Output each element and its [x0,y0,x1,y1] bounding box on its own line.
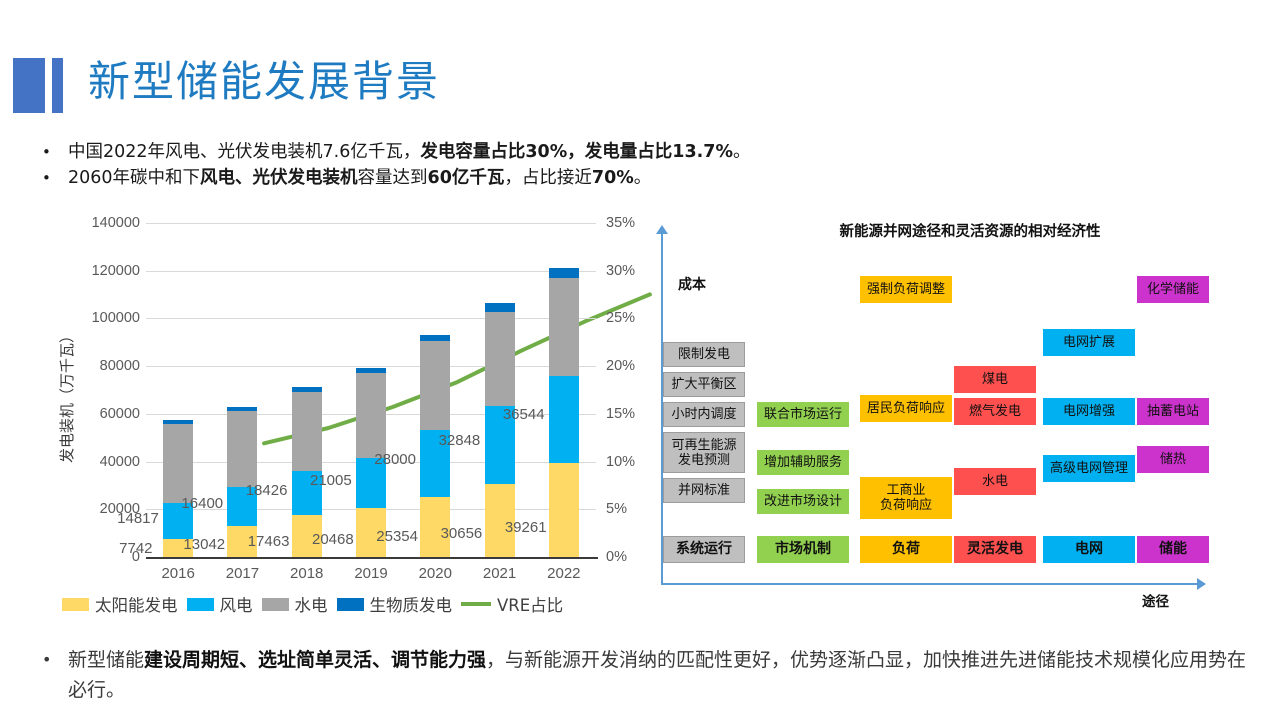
diagram-box[interactable]: 小时内调度 [663,402,745,427]
diagram-box-label: 储热 [1160,452,1186,467]
bullet-marker-icon: • [34,645,68,675]
chart-data-label-solar: 20468 [312,531,354,548]
diagram-box[interactable]: 居民负荷响应 [860,395,952,422]
page-title: 新型储能发展背景 [88,50,440,114]
diagram-y-axis-arrow-icon [656,225,668,234]
bullet-item: •2060年碳中和下风电、光伏发电装机容量达到60亿千瓦，占比接近70%。 [34,165,1249,191]
chart-bar-segment [420,335,450,342]
chart-bar-segment [227,411,257,486]
bullet-item: •新型储能建设周期短、选址简单灵活、调节能力强，与新能源开发消纳的匹配性更好，优… [34,645,1249,705]
diagram-x-axis-arrow-icon [1197,578,1206,590]
chart-y-axis-left: 020000400006000080000100000120000140000 [78,205,140,560]
chart-y-axis-label: 发电装机（万千瓦） [56,328,77,463]
diagram-box-label: 煤电 [982,372,1008,387]
chart-bar-segment [356,373,386,458]
diagram-box-label: 工商业 负荷响应 [880,483,932,513]
diagram-box[interactable]: 高级电网管理 [1043,455,1135,482]
chart-data-label-wind: 16400 [181,495,223,512]
chart-bar-segment [292,392,322,471]
diagram-box-label: 小时内调度 [671,407,736,422]
vre-share-polyline [264,294,650,443]
diagram-box[interactable]: 电网 [1043,536,1135,563]
diagram-box-label: 水电 [982,474,1008,489]
diagram-box-label: 电网增强 [1063,404,1115,419]
chart-bar-segment [227,407,257,411]
diagram-box-label: 并网标准 [678,483,730,498]
chart-data-label-wind: 21005 [310,472,352,489]
diagram-box-label: 扩大平衡区 [671,377,736,392]
top-bullet-list: •中国2022年风电、光伏发电装机7.6亿千瓦，发电容量占比30%，发电量占比1… [34,139,1249,191]
legend-swatch-icon [62,598,89,611]
diagram-box[interactable]: 电网增强 [1043,398,1135,425]
diagram-box[interactable]: 增加辅助服务 [757,450,849,475]
diagram-box-label: 居民负荷响应 [867,401,945,416]
chart-y-axis-right: 0%5%10%15%20%25%30%35% [596,205,656,560]
legend-line-icon [461,602,491,606]
diagram-box-label: 灵活发电 [967,542,1023,557]
diagram-box[interactable]: 系统运行 [663,536,745,563]
chart-data-label-wind: 36544 [503,406,545,423]
chart-legend: 太阳能发电风电水电生物质发电VRE占比 [62,592,622,616]
diagram-box[interactable]: 限制发电 [663,342,745,367]
diagram-box[interactable]: 储热 [1137,446,1209,473]
bullet-plain: ，占比接近 [504,168,592,188]
bullet-item: •中国2022年风电、光伏发电装机7.6亿千瓦，发电容量占比30%，发电量占比1… [34,139,1249,165]
legend-label: 太阳能发电 [95,592,178,616]
bullet-marker-icon: • [34,165,68,191]
chart-x-tick: 2016 [148,565,208,582]
chart-x-axis-line [146,557,598,559]
bullet-emphasis: 发电容量占比30%，发电量占比13.7% [420,142,733,162]
bullet-emphasis: 建设周期短、选址简单灵活、调节能力强 [144,649,486,671]
chart-x-tick: 2017 [212,565,272,582]
diagram-box[interactable]: 煤电 [954,366,1036,393]
bullet-emphasis: 60亿千瓦 [428,168,505,188]
diagram-box[interactable]: 储能 [1137,536,1209,563]
bullet-plain: 新型储能 [68,649,144,671]
diagram-box-label: 限制发电 [678,347,730,362]
diagram-box[interactable]: 抽蓄电站 [1137,398,1209,425]
chart-bar-stack [292,223,322,557]
generation-capacity-chart: 发电装机（万千瓦） 020000400006000080000100000120… [60,205,655,620]
title-accent-bar-wide [13,58,45,113]
chart-bar-segment [549,278,579,377]
legend-swatch-icon [187,598,214,611]
diagram-x-axis-line [661,583,1199,585]
diagram-box-label: 燃气发电 [969,404,1021,419]
chart-data-label-wind: 18426 [246,482,288,499]
chart-bar-segment [356,368,386,373]
diagram-box-label: 高级电网管理 [1050,461,1128,476]
diagram-box[interactable]: 并网标准 [663,478,745,503]
chart-bar-segment [292,387,322,392]
diagram-box-label: 电网扩展 [1063,335,1115,350]
diagram-box-label: 增加辅助服务 [764,455,842,470]
chart-data-label-wind: 28000 [374,451,416,468]
diagram-box-label: 市场机制 [775,542,831,557]
chart-x-tick: 2022 [534,565,594,582]
chart-plot-area: 7742148171304216400174631842620468210052… [146,223,596,557]
chart-bar-stack [549,223,579,557]
diagram-box-label: 改进市场设计 [764,494,842,509]
bullet-plain: 。 [634,168,652,188]
chart-bar-segment [163,424,193,503]
diagram-y-axis-label: 成本 [678,274,706,294]
chart-y-tick-left: 40000 [78,454,140,470]
legend-label: VRE占比 [497,592,563,616]
chart-bar-segment [549,463,579,557]
bullet-plain: 。 [733,142,751,162]
bullet-marker-icon: • [34,139,68,165]
chart-data-label-solar: 30656 [441,525,483,542]
chart-bar-stack [485,223,515,557]
diagram-box[interactable]: 强制负荷调整 [860,276,952,303]
diagram-box[interactable]: 改进市场设计 [757,489,849,514]
legend-item[interactable]: 风电 [187,592,253,616]
diagram-box[interactable]: 联合市场运行 [757,402,849,427]
bullet-text: 中国2022年风电、光伏发电装机7.6亿千瓦，发电容量占比30%，发电量占比13… [68,139,1249,165]
legend-item[interactable]: 水电 [262,592,328,616]
chart-data-label-solar: 13042 [183,536,225,553]
diagram-box-label: 储能 [1159,542,1187,557]
diagram-box-label: 负荷 [892,542,920,557]
diagram-box[interactable]: 灵活发电 [954,536,1036,563]
chart-bar-segment [163,420,193,424]
chart-x-tick: 2018 [277,565,337,582]
chart-bar-segment [549,376,579,463]
chart-data-label-solar: 25354 [376,528,418,545]
diagram-box-label: 联合市场运行 [764,407,842,422]
chart-bar-segment [420,341,450,429]
bottom-bullet-list: •新型储能建设周期短、选址简单灵活、调节能力强，与新能源开发消纳的匹配性更好，优… [34,645,1249,705]
chart-bar-stack [420,223,450,557]
diagram-x-axis-label: 途径 [1142,590,1169,610]
diagram-box[interactable]: 水电 [954,468,1036,495]
bullet-emphasis: 风电、光伏发电装机 [200,168,358,188]
title-accent-bar-narrow [52,58,63,113]
chart-y-tick-left: 120000 [78,263,140,279]
bullet-text: 2060年碳中和下风电、光伏发电装机容量达到60亿千瓦，占比接近70%。 [68,165,1249,191]
diagram-box-label: 抽蓄电站 [1147,404,1199,419]
chart-bar-segment [485,303,515,312]
chart-data-label-solar: 17463 [248,533,290,550]
legend-item[interactable]: 生物质发电 [337,592,453,616]
chart-y-tick-left: 140000 [78,215,140,231]
diagram-box-label: 强制负荷调整 [867,282,945,297]
bullet-text: 新型储能建设周期短、选址简单灵活、调节能力强，与新能源开发消纳的匹配性更好，优势… [68,645,1249,705]
diagram-box[interactable]: 电网扩展 [1043,329,1135,356]
chart-x-tick: 2019 [341,565,401,582]
legend-item[interactable]: VRE占比 [461,592,563,616]
chart-y-tick-left: 100000 [78,310,140,326]
chart-data-label-solar: 7742 [119,540,152,557]
chart-bar-stack [356,223,386,557]
diagram-box[interactable]: 负荷 [860,536,952,563]
diagram-box[interactable]: 化学储能 [1137,276,1209,303]
chart-bar-segment [549,268,579,278]
chart-bar-stack [227,223,257,557]
diagram-box[interactable]: 燃气发电 [954,398,1036,425]
chart-data-label-wind: 32848 [439,432,481,449]
diagram-box[interactable]: 市场机制 [757,536,849,563]
chart-data-label-wind: 14817 [117,510,159,527]
grid-integration-economics-diagram: 新能源并网途径和灵活资源的相对经济性 成本 途径 限制发电扩大平衡区小时内调度可… [650,212,1250,622]
diagram-box[interactable]: 工商业 负荷响应 [860,477,952,519]
diagram-box-label: 系统运行 [676,542,732,557]
diagram-box-label: 化学储能 [1147,282,1199,297]
legend-label: 风电 [220,592,253,616]
legend-item[interactable]: 太阳能发电 [62,592,178,616]
legend-swatch-icon [262,598,289,611]
diagram-box-label: 电网 [1075,542,1103,557]
chart-bar-segment [485,312,515,405]
diagram-box-label: 可再生能源 发电预测 [671,438,736,468]
legend-label: 生物质发电 [370,592,453,616]
diagram-box[interactable]: 可再生能源 发电预测 [663,432,745,473]
legend-label: 水电 [295,592,328,616]
chart-y-tick-left: 60000 [78,406,140,422]
chart-y-tick-left: 80000 [78,358,140,374]
bullet-plain: 2060年碳中和下 [68,168,200,188]
bullet-plain: 容量达到 [358,168,428,188]
bullet-emphasis: 70% [592,168,634,188]
chart-x-tick: 2021 [470,565,530,582]
chart-x-tick: 2020 [405,565,465,582]
legend-swatch-icon [337,598,364,611]
chart-data-label-solar: 39261 [505,519,547,536]
diagram-title: 新能源并网途径和灵活资源的相对经济性 [760,220,1180,241]
diagram-box[interactable]: 扩大平衡区 [663,372,745,397]
bullet-plain: 中国2022年风电、光伏发电装机7.6亿千瓦， [68,142,420,162]
